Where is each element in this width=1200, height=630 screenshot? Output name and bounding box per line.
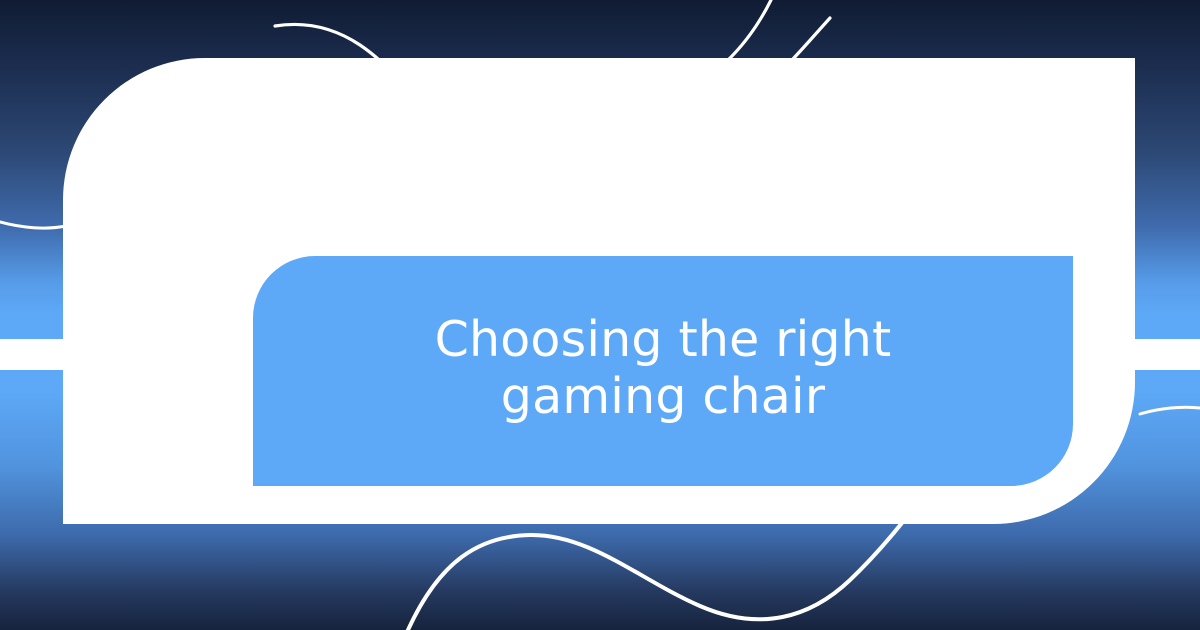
- title-panel: Choosing the right gaming chair: [253, 256, 1073, 486]
- banner-canvas: Choosing the right gaming chair: [0, 0, 1200, 630]
- white-card: Choosing the right gaming chair: [63, 58, 1135, 524]
- banner-title: Choosing the right gaming chair: [343, 312, 983, 430]
